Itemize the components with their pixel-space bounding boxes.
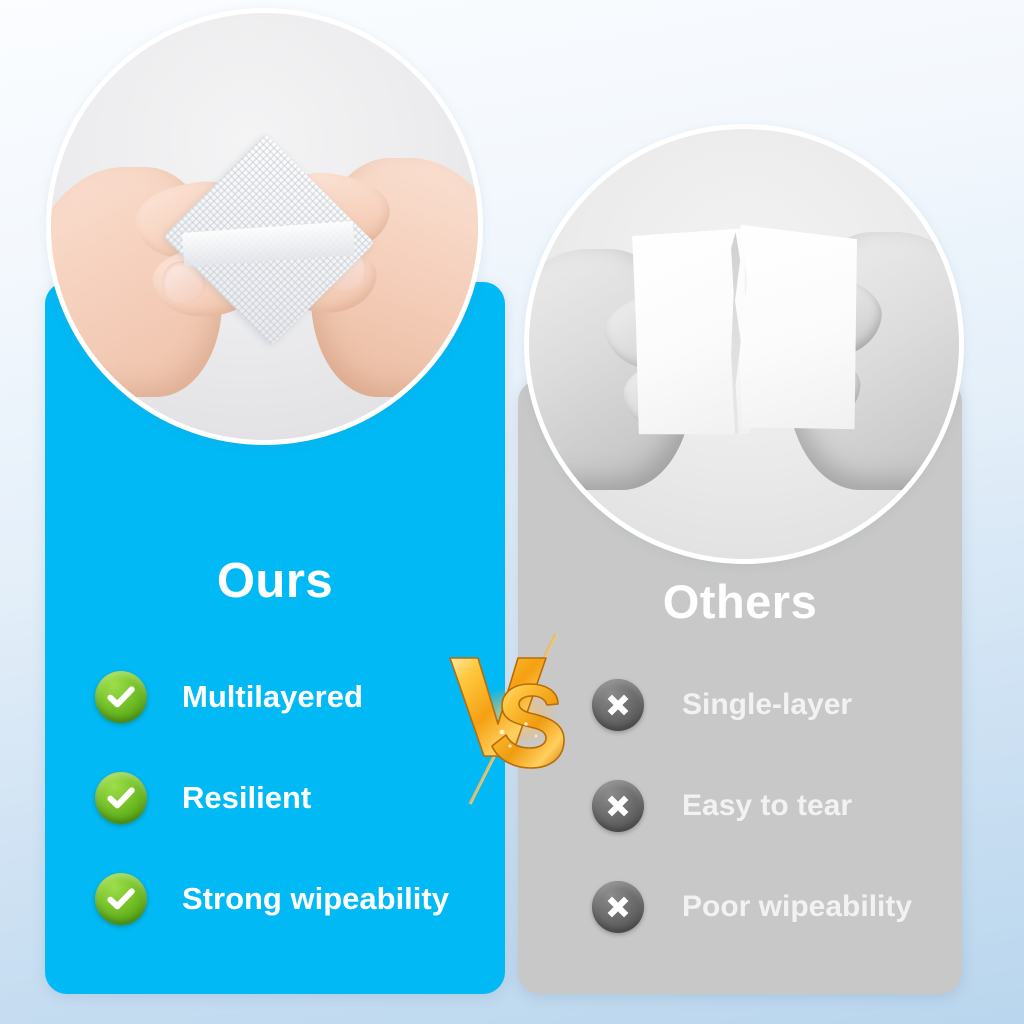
feature-label: Poor wipeability xyxy=(682,890,912,924)
list-item: Easy to tear xyxy=(592,773,962,839)
list-item: Poor wipeability xyxy=(592,874,962,940)
comparison-infographic: Ours Others Multilayered Resilient xyxy=(0,0,1024,1024)
check-icon xyxy=(95,873,147,925)
cross-icon xyxy=(592,881,644,933)
cross-icon xyxy=(592,679,644,731)
others-product-photo xyxy=(524,124,964,564)
list-item: Multilayered xyxy=(95,664,495,730)
cross-icon xyxy=(592,780,644,832)
ours-title: Ours xyxy=(45,553,505,609)
list-item: Resilient xyxy=(95,765,495,831)
feature-label: Multilayered xyxy=(182,679,363,715)
feature-label: Single-layer xyxy=(682,688,852,722)
feature-label: Easy to tear xyxy=(682,789,852,823)
ours-photo-scene xyxy=(51,13,478,440)
ours-product-photo xyxy=(46,8,483,445)
list-item: Strong wipeability xyxy=(95,866,495,932)
list-item: Single-layer xyxy=(592,672,962,738)
check-icon xyxy=(95,671,147,723)
feature-label: Resilient xyxy=(182,780,311,816)
others-feature-list: Single-layer Easy to tear Poor wipeabili… xyxy=(592,672,962,940)
others-photo-scene xyxy=(529,129,959,559)
others-title: Others xyxy=(518,574,962,629)
ours-feature-list: Multilayered Resilient Strong wipeabilit… xyxy=(95,664,495,932)
feature-label: Strong wipeability xyxy=(182,881,449,917)
torn-wipe-right-half xyxy=(730,225,865,433)
check-icon xyxy=(95,772,147,824)
